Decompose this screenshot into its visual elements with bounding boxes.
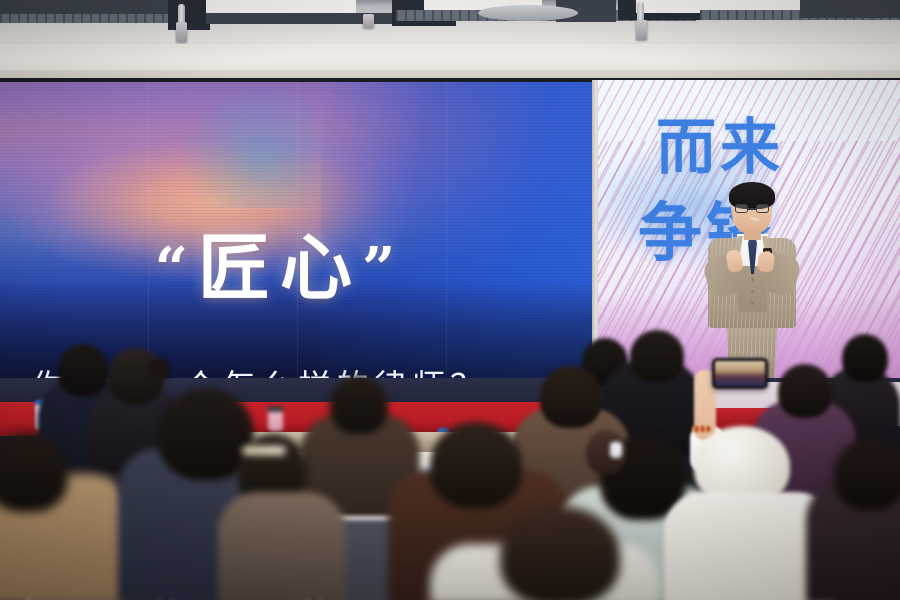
audience	[0, 330, 900, 600]
spotlight-icon	[176, 22, 187, 42]
ceiling-duct	[478, 5, 578, 21]
ceiling	[0, 0, 900, 78]
audience-member-head	[630, 330, 684, 382]
audience-member-head	[834, 438, 900, 510]
audience-member-body	[218, 492, 346, 600]
eyeglasses-icon	[735, 204, 769, 214]
conference-photo-scene: “匠心” 你要做一个怎么样的律师？ 而来 争锋	[0, 0, 900, 600]
waistcoat-button	[751, 290, 754, 293]
waistcoat-button	[751, 278, 754, 281]
bracelet	[692, 426, 711, 432]
ceiling-panel	[206, 0, 356, 14]
ceiling-duct-block	[168, 0, 210, 30]
audience-member-head	[430, 422, 522, 508]
slide-title-text: 匠心	[198, 226, 362, 310]
audience-member-head	[330, 376, 388, 434]
spotlight-icon	[363, 14, 374, 28]
ceiling-soffit-edge	[0, 70, 900, 78]
quote-close-mark: ”	[362, 234, 405, 302]
slide-title: “匠心”	[0, 232, 560, 304]
audience-member-head	[58, 344, 108, 396]
spotlight-icon	[636, 20, 647, 40]
ceiling-beam	[800, 0, 900, 18]
hair-clip	[610, 442, 622, 458]
audience-member-head	[500, 506, 620, 600]
waistcoat-button	[751, 302, 754, 305]
quote-open-mark: “	[155, 234, 198, 302]
audience-member-head	[778, 364, 832, 418]
hair-bun	[148, 358, 170, 380]
hair-headband	[242, 446, 286, 455]
audience-member-head	[842, 334, 888, 382]
smartphone-recording[interactable]	[712, 358, 768, 389]
banner-calligraphy-line1: 而来	[656, 118, 784, 178]
audience-member-head	[540, 366, 602, 428]
